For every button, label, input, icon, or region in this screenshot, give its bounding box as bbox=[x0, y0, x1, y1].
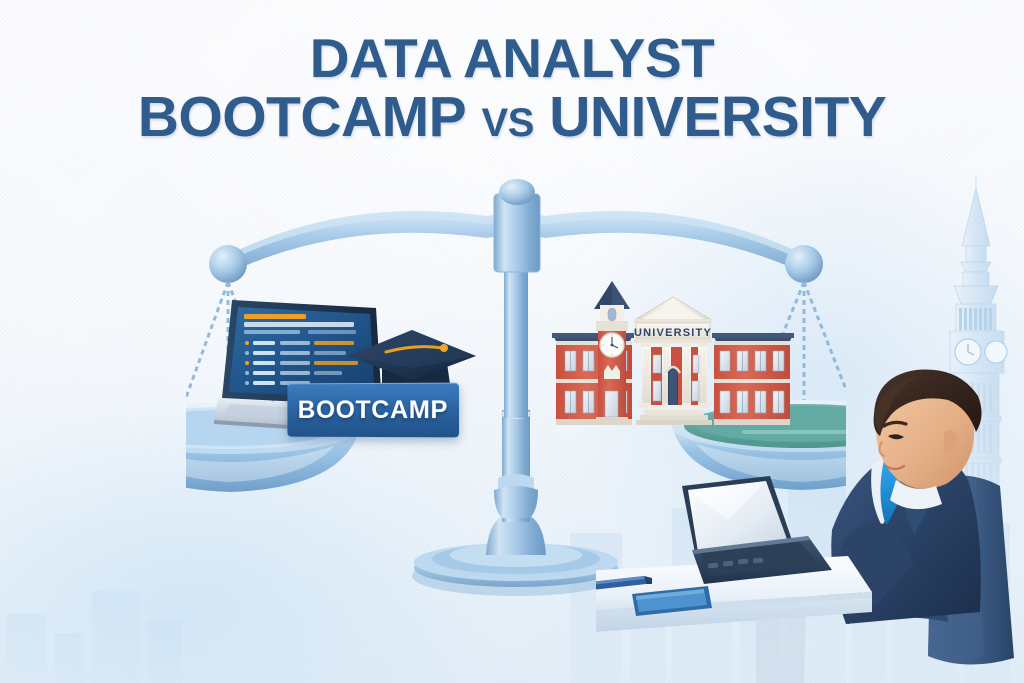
scale-base bbox=[412, 516, 620, 596]
bootcamp-group: BOOTCAMP bbox=[206, 298, 476, 483]
illustration-canvas: DATA ANALYST BOOTCAMP VS UNIVERSITY bbox=[0, 0, 1024, 683]
scale-knob-left bbox=[209, 245, 247, 283]
businessman-at-desk bbox=[596, 360, 1024, 683]
bootcamp-badge-label: BOOTCAMP bbox=[298, 395, 448, 424]
scale-hub bbox=[494, 179, 540, 272]
desk-laptop bbox=[682, 476, 832, 584]
bootcamp-badge: BOOTCAMP bbox=[287, 383, 459, 438]
university-sign-label: UNIVERSITY bbox=[538, 327, 808, 339]
